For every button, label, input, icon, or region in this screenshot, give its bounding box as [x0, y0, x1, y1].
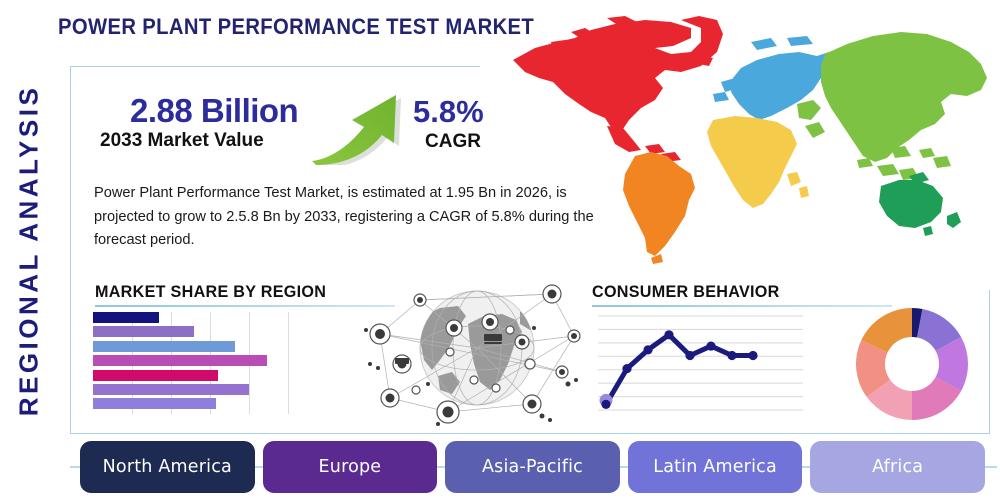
bar-chart-bar	[93, 341, 235, 352]
consumer-behavior-underline	[592, 305, 892, 307]
cagr-figure: 5.8%	[413, 94, 484, 130]
page-title: POWER PLANT PERFORMANCE TEST MARKET	[58, 14, 534, 40]
bar-chart-bar	[93, 326, 194, 337]
region-tab-label: Africa	[872, 457, 923, 477]
line-chart-marker	[643, 345, 652, 354]
market-value-figure: 2.88 Billion	[130, 92, 298, 130]
world-map-icon	[495, 8, 995, 273]
region-tab-label: North America	[103, 457, 232, 477]
consumer-behavior-line-chart	[598, 310, 803, 418]
line-chart-marker	[727, 351, 736, 360]
region-tab-latin-america[interactable]: Latin America	[628, 441, 803, 493]
line-chart-marker	[685, 351, 694, 360]
consumer-behavior-section-title: CONSUMER BEHAVIOR	[592, 282, 780, 302]
region-tab-label: Europe	[319, 457, 382, 477]
bar-chart-bar	[93, 370, 218, 381]
market-share-underline	[95, 305, 395, 307]
cagr-label: CAGR	[425, 131, 481, 153]
bar-gridline	[288, 312, 289, 414]
line-chart-marker	[706, 341, 715, 350]
map-region-north-america	[513, 16, 723, 162]
growth-arrow-icon	[308, 87, 413, 165]
line-chart-marker	[748, 351, 757, 360]
region-tab-label: Latin America	[653, 457, 777, 477]
tab-connector	[985, 466, 997, 468]
line-chart-marker	[622, 364, 631, 373]
market-value-label: 2033 Market Value	[100, 130, 264, 152]
bar-chart-bar	[93, 312, 159, 323]
region-tab-europe[interactable]: Europe	[263, 441, 438, 493]
regional-donut-chart	[856, 308, 968, 420]
region-tab-asia-pacific[interactable]: Asia-Pacific	[445, 441, 620, 493]
map-region-south-america	[623, 152, 695, 264]
region-tab-label: Asia-Pacific	[482, 457, 583, 477]
region-tab-north-america[interactable]: North America	[80, 441, 255, 493]
map-region-oceania	[879, 172, 961, 236]
region-tab-africa[interactable]: Africa	[810, 441, 985, 493]
line-chart-gridlines	[598, 316, 803, 410]
bar-chart-bar	[93, 398, 216, 409]
bar-chart-bar	[93, 384, 249, 395]
regional-analysis-label: REGIONAL ANALYSIS	[14, 84, 45, 416]
market-share-bar-chart	[93, 312, 288, 414]
map-region-asia	[797, 32, 987, 180]
line-chart-marker	[664, 330, 673, 339]
regional-analysis-banner: REGIONAL ANALYSIS	[0, 0, 58, 500]
region-tab-bar: North AmericaEuropeAsia-PacificLatin Ame…	[80, 441, 985, 493]
kpi-row: 2.88 Billion 2033 Market Value 5.8% CAGR	[95, 92, 515, 164]
donut-hole	[885, 337, 939, 391]
map-region-africa	[707, 116, 809, 208]
market-share-section-title: MARKET SHARE BY REGION	[95, 282, 326, 302]
bar-chart-bar	[93, 355, 267, 366]
globe-network-icon	[362, 272, 592, 427]
line-chart-marker	[601, 400, 610, 409]
